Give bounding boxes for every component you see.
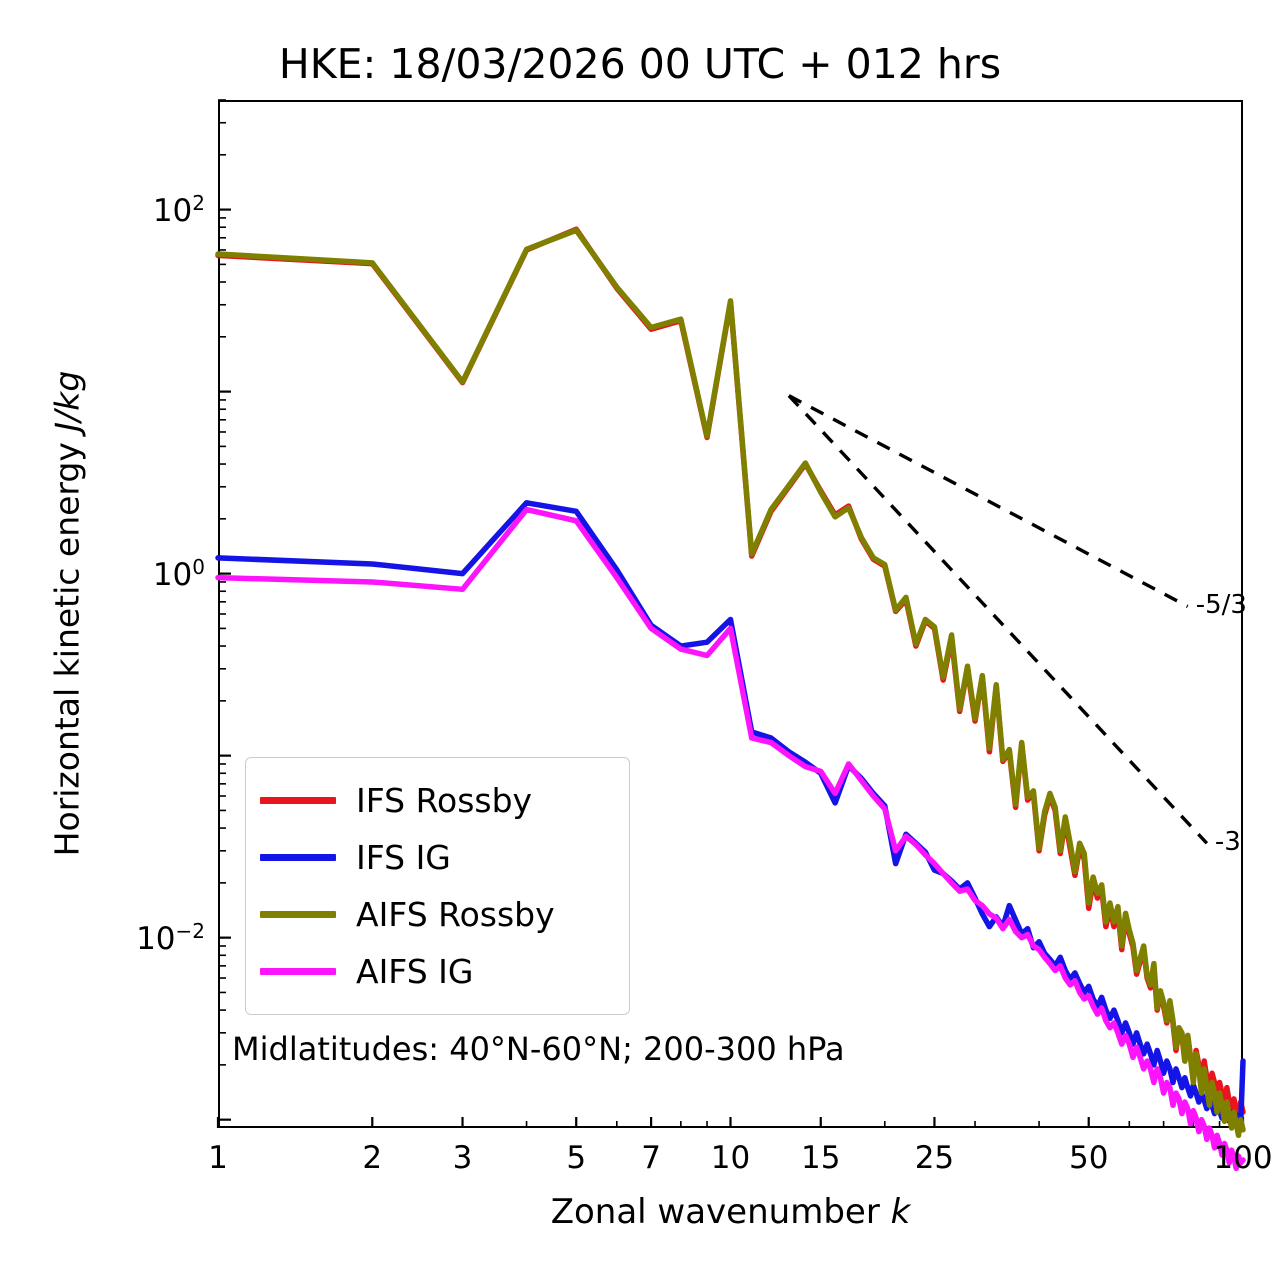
- legend-swatch-aifs-ig: [260, 968, 336, 975]
- legend-item[interactable]: IFS Rossby: [260, 772, 613, 829]
- legend-label-aifs-ig: AIFS IG: [356, 952, 473, 991]
- y-tick-label: 100: [153, 554, 205, 592]
- x-tick-label: 3: [453, 1140, 473, 1176]
- x-tick-label: 5: [566, 1140, 586, 1176]
- x-tick-label: 50: [1069, 1140, 1108, 1176]
- x-tick-label: 10: [711, 1140, 750, 1176]
- y-tick-label: 10−2: [136, 918, 205, 956]
- chart-legend: IFS Rossby IFS IG AIFS Rossby AIFS IG: [245, 757, 630, 1015]
- y-tick-label: 102: [153, 190, 205, 228]
- x-axis-label: Zonal wavenumber k: [218, 1192, 1243, 1232]
- x-axis-label-symbol: k: [891, 1192, 911, 1232]
- legend-label-ifs-rossby: IFS Rossby: [356, 781, 532, 820]
- legend-swatch-ifs-ig: [260, 854, 336, 861]
- slope-label--5-3: -5/3: [1196, 590, 1247, 620]
- legend-item[interactable]: AIFS Rossby: [260, 886, 613, 943]
- region-annotation: Midlatitudes: 40°N-60°N; 200-300 hPa: [232, 1030, 845, 1068]
- x-tick-label: 15: [801, 1140, 840, 1176]
- x-tick-label: 25: [915, 1140, 954, 1176]
- legend-item[interactable]: AIFS IG: [260, 943, 613, 1000]
- x-tick-label: 100: [1213, 1140, 1272, 1176]
- legend-swatch-ifs-rossby: [260, 797, 336, 804]
- x-tick-label: 7: [641, 1140, 661, 1176]
- legend-label-aifs-rossby: AIFS Rossby: [356, 895, 555, 934]
- x-tick-label: 1: [208, 1140, 228, 1176]
- legend-label-ifs-ig: IFS IG: [356, 838, 451, 877]
- legend-swatch-aifs-rossby: [260, 911, 336, 918]
- x-tick-label: 2: [362, 1140, 382, 1176]
- slope-label--3: -3: [1215, 827, 1241, 857]
- x-axis-label-text: Zonal wavenumber: [551, 1192, 891, 1232]
- y-axis-label-units: J/kg: [48, 371, 87, 432]
- y-axis-label: Horizontal kinetic energy J/kg: [48, 264, 87, 964]
- legend-item[interactable]: IFS IG: [260, 829, 613, 886]
- chart-title: HKE: 18/03/2026 00 UTC + 012 hrs: [0, 40, 1280, 88]
- chart-figure: HKE: 18/03/2026 00 UTC + 012 hrs Horizon…: [0, 0, 1280, 1288]
- y-axis-label-text: Horizontal kinetic energy: [48, 432, 87, 857]
